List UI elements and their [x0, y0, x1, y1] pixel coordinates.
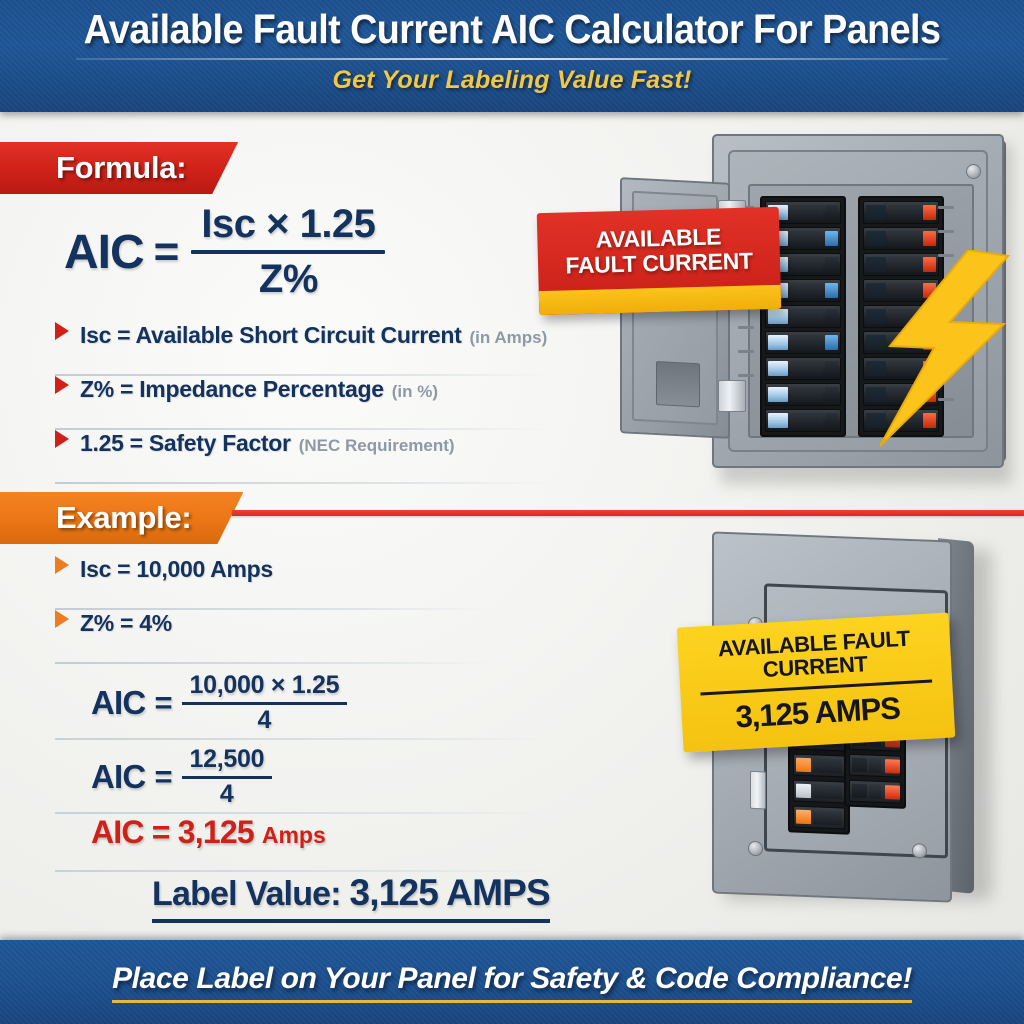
- calculation-result: AIC = 3,125 Amps: [55, 814, 525, 872]
- step-lhs: AIC: [91, 758, 145, 796]
- yellow-label-value: 3,125 AMPS: [695, 688, 941, 738]
- footer-text: Place Label on Your Panel for Safety & C…: [112, 962, 912, 1003]
- breaker: [793, 754, 845, 778]
- example-section-ribbon: Example:: [0, 492, 243, 544]
- header-banner: Available Fault Current AIC Calculator F…: [0, 0, 1024, 112]
- step-fraction: 10,000 × 1.25 4: [182, 671, 348, 735]
- breaker: [863, 201, 939, 224]
- formula-denominator: Z%: [259, 254, 318, 302]
- panel-latch: [750, 771, 766, 810]
- definition-note: (in %): [392, 382, 438, 402]
- step-denominator: 4: [257, 705, 271, 735]
- door-hinge-icon: [718, 380, 746, 412]
- available-fault-current-yellow-label: AVAILABLE FAULT CURRENT 3,125 AMPS: [677, 613, 956, 753]
- result-text: AIC = 3,125: [91, 814, 254, 851]
- given-key: Z% = 4%: [80, 610, 172, 637]
- breaker: [793, 806, 845, 830]
- breaker: [765, 357, 841, 380]
- bus-tick: [738, 374, 754, 377]
- formula-ribbon-label: Formula:: [56, 150, 186, 186]
- calculation-step: AIC = 12,500 4: [55, 740, 525, 814]
- breaker: [765, 383, 841, 406]
- list-item: Isc = 10,000 Amps: [55, 556, 485, 610]
- definition-key: Z% = Impedance Percentage: [80, 376, 384, 403]
- red-tag-line2: FAULT CURRENT: [546, 248, 773, 279]
- example-divider-rule: [232, 510, 1024, 516]
- infographic-canvas: Available Fault Current AIC Calculator F…: [0, 0, 1024, 1024]
- page-title: Available Fault Current AIC Calculator F…: [41, 6, 983, 53]
- label-value-callout: Label Value: 3,125 AMPS: [152, 872, 550, 923]
- step-numerator: 10,000 × 1.25: [182, 671, 348, 702]
- red-tag-text: AVAILABLE FAULT CURRENT: [537, 207, 781, 291]
- list-item: Z% = 4%: [55, 610, 485, 664]
- step-equals: =: [154, 759, 172, 795]
- formula-lhs: AIC: [64, 225, 144, 280]
- step-equals: =: [154, 685, 172, 721]
- panel-screw: [748, 841, 763, 857]
- triangle-bullet-icon: [55, 430, 69, 448]
- title-underline: [76, 58, 948, 60]
- definition-note: (in Amps): [470, 328, 548, 348]
- triangle-bullet-icon: [55, 610, 69, 628]
- lightning-bolt-icon: [872, 250, 1024, 470]
- panel-door-vent: [656, 361, 700, 407]
- step-fraction: 12,500 4: [182, 745, 273, 809]
- list-item: Isc = Available Short Circuit Current (i…: [55, 322, 545, 376]
- triangle-bullet-icon: [55, 376, 69, 394]
- step-numerator: 12,500: [182, 745, 273, 776]
- formula-equation: AIC = Isc × 1.25 Z%: [64, 202, 385, 302]
- bus-tick: [738, 350, 754, 353]
- result-unit: Amps: [262, 822, 326, 849]
- breaker: [765, 331, 841, 354]
- formula-fraction: Isc × 1.25 Z%: [191, 202, 385, 302]
- label-value-amount: 3,125 AMPS: [349, 872, 549, 913]
- example-ribbon-label: Example:: [56, 500, 191, 536]
- label-value-prefix: Label Value:: [152, 875, 349, 913]
- triangle-bullet-icon: [55, 322, 69, 340]
- example-calculation-steps: AIC = 10,000 × 1.25 4 AIC = 12,500 4 AIC…: [55, 666, 525, 872]
- bottom-panel-illustration: AVAILABLE FAULT CURRENT 3,125 AMPS: [690, 524, 1024, 924]
- bus-tick: [938, 230, 954, 233]
- list-item: Z% = Impedance Percentage (in %): [55, 376, 545, 430]
- example-given-list: Isc = 10,000 Amps Z% = 4%: [55, 556, 485, 664]
- panel-screw: [912, 843, 927, 859]
- formula-section-ribbon: Formula:: [0, 142, 238, 194]
- bus-tick: [738, 326, 754, 329]
- panel-screw: [966, 164, 981, 179]
- definition-note: (NEC Requirement): [299, 436, 455, 456]
- triangle-bullet-icon: [55, 556, 69, 574]
- list-item: 1.25 = Safety Factor (NEC Requirement): [55, 430, 545, 484]
- breaker: [863, 227, 939, 250]
- formula-definition-list: Isc = Available Short Circuit Current (i…: [55, 322, 545, 484]
- available-fault-current-red-tag: AVAILABLE FAULT CURRENT: [537, 207, 782, 315]
- formula-numerator: Isc × 1.25: [191, 202, 385, 250]
- formula-equals: =: [154, 227, 180, 277]
- bus-tick: [938, 206, 954, 209]
- calculation-step: AIC = 10,000 × 1.25 4: [55, 666, 525, 740]
- breaker: [765, 409, 841, 432]
- step-lhs: AIC: [91, 684, 145, 722]
- definition-key: Isc = Available Short Circuit Current: [80, 322, 462, 349]
- given-key: Isc = 10,000 Amps: [80, 556, 273, 583]
- step-denominator: 4: [220, 779, 234, 809]
- breaker: [793, 780, 845, 804]
- page-subtitle: Get Your Labeling Value Fast!: [0, 66, 1024, 95]
- breaker: [849, 780, 901, 804]
- footer-banner: Place Label on Your Panel for Safety & C…: [0, 940, 1024, 1024]
- definition-key: 1.25 = Safety Factor: [80, 430, 291, 457]
- breaker: [849, 754, 901, 778]
